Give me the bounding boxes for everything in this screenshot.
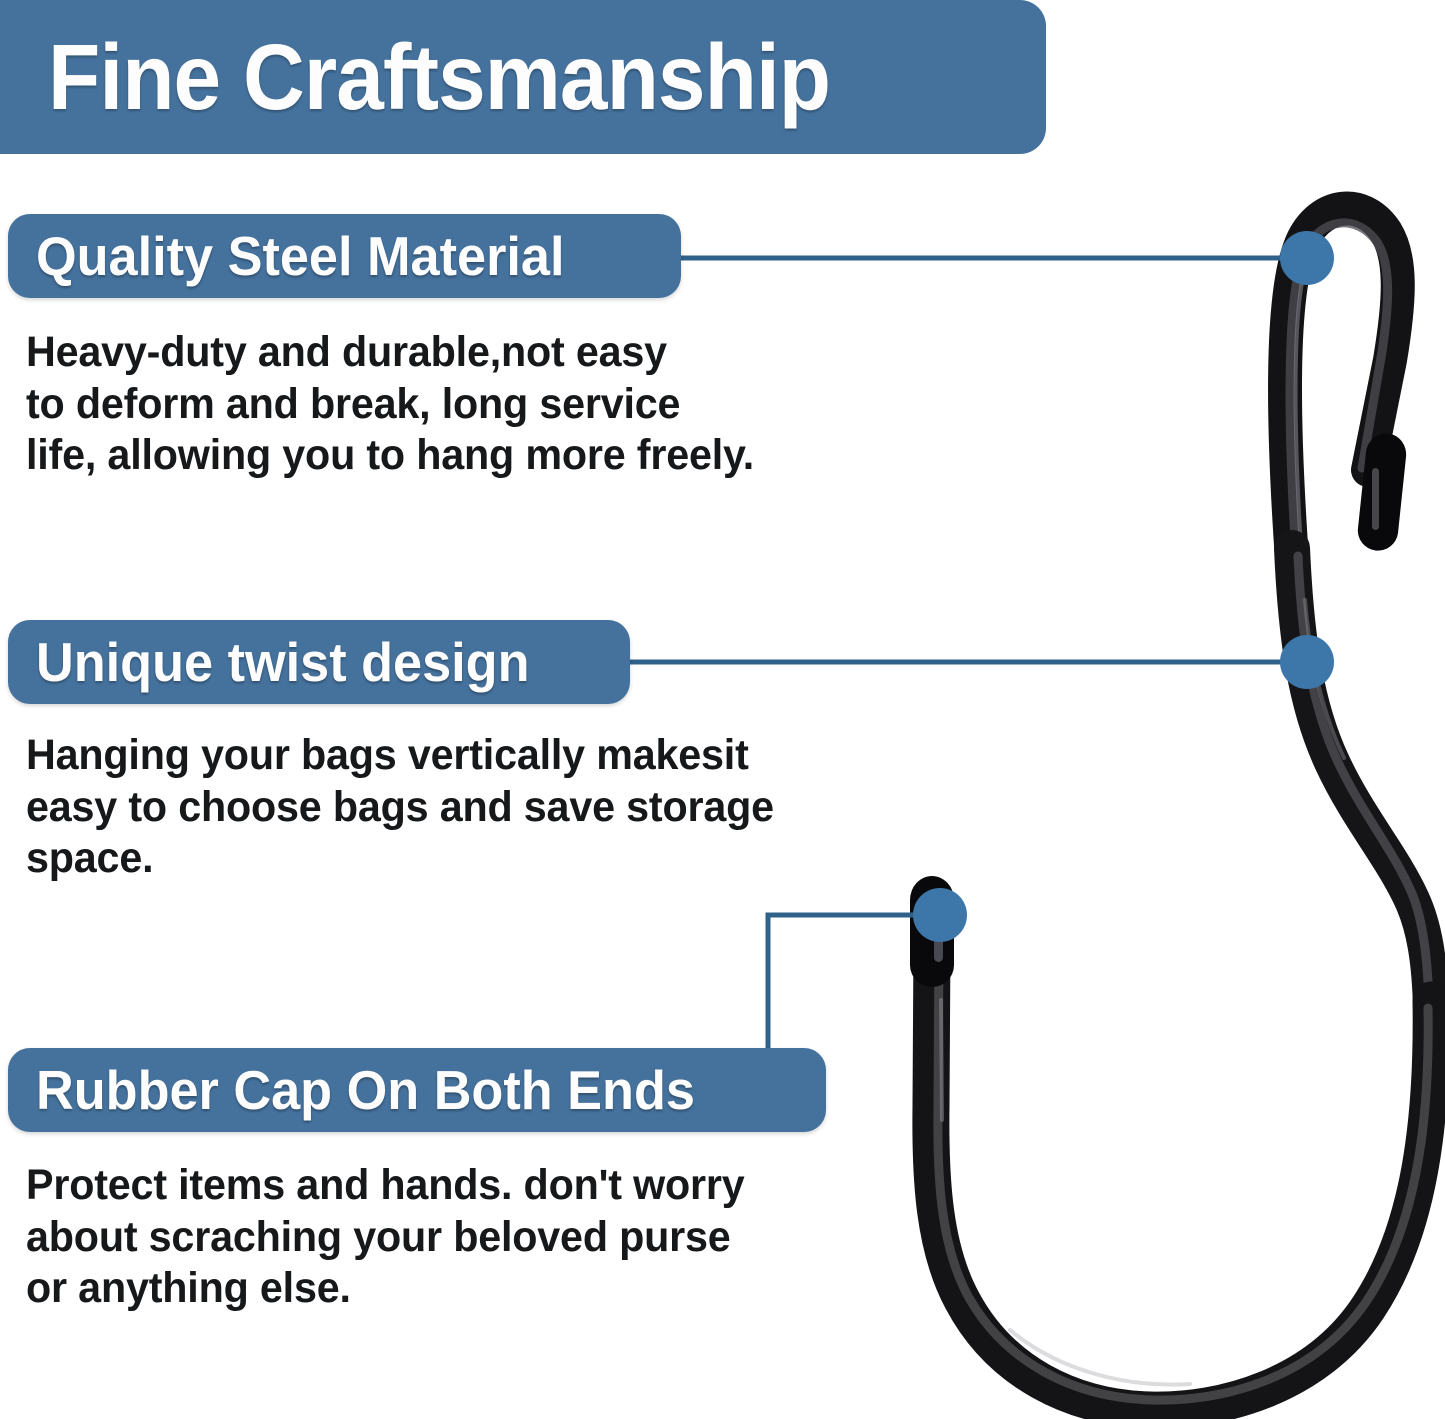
feature-label-rubber-cap-on-both-ends: Rubber Cap On Both Ends xyxy=(8,1048,826,1132)
callout-dot-3 xyxy=(913,888,967,942)
product-infographic: Fine Craftsmanship Quality Steel Materia… xyxy=(0,0,1445,1419)
feature-label-text: Quality Steel Material xyxy=(36,229,564,284)
feature-body-quality-steel-material: Heavy-duty and durable,not easy to defor… xyxy=(26,327,784,482)
feature-label-quality-steel-material: Quality Steel Material xyxy=(8,214,681,298)
connector-line-3 xyxy=(768,915,940,1052)
upper-hook-rubber-cap xyxy=(1358,433,1406,550)
lower-hook-rubber-cap xyxy=(910,876,954,987)
page-title: Fine Craftsmanship xyxy=(48,31,830,124)
feature-body-rubber-cap-on-both-ends: Protect items and hands. don't worry abo… xyxy=(26,1160,784,1315)
feature-label-unique-twist-design: Unique twist design xyxy=(8,620,630,704)
feature-label-text: Unique twist design xyxy=(36,635,529,690)
callout-dot-1 xyxy=(1280,231,1334,285)
upper-hook-arc xyxy=(1285,209,1398,560)
twist-bend xyxy=(1292,548,1431,1010)
feature-body-unique-twist-design: Hanging your bags vertically makesit eas… xyxy=(26,730,794,885)
lower-hook-u xyxy=(931,940,1431,1410)
header-banner: Fine Craftsmanship xyxy=(0,0,1046,154)
callout-dot-2 xyxy=(1280,635,1334,689)
feature-label-text: Rubber Cap On Both Ends xyxy=(36,1063,695,1118)
